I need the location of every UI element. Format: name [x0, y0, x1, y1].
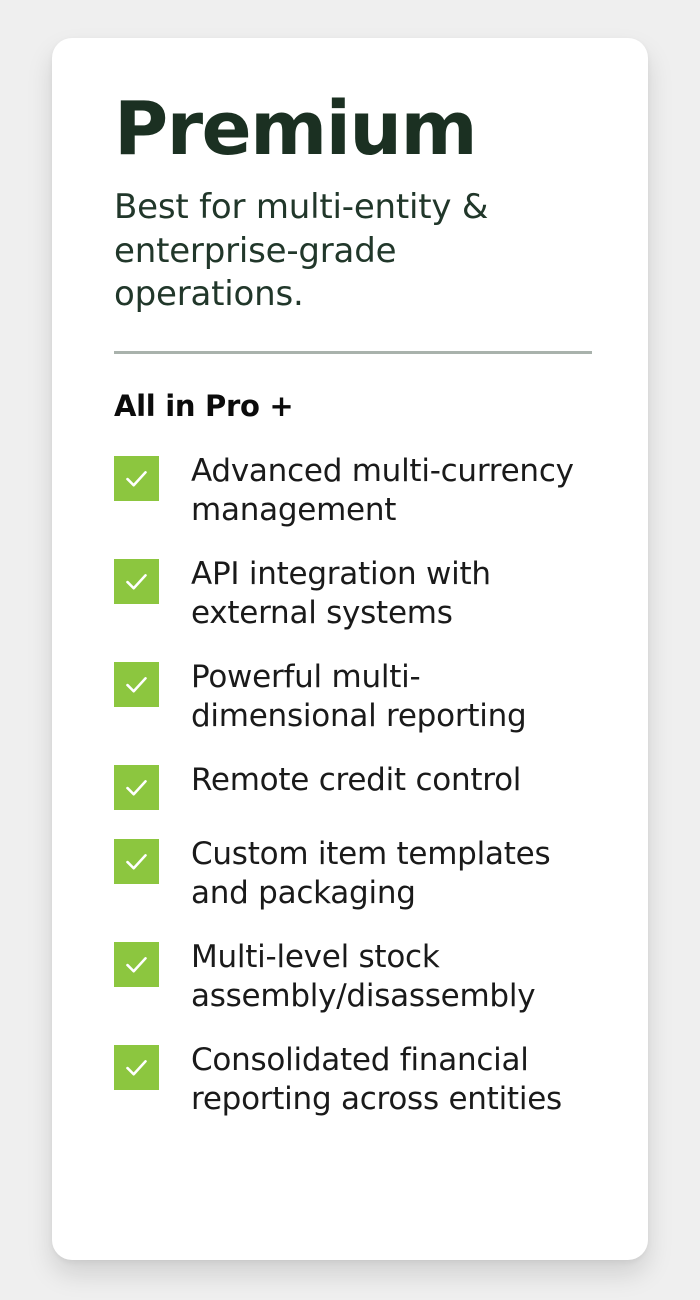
check-icon [114, 942, 159, 987]
feature-group-heading: All in Pro + [114, 389, 608, 423]
section-divider [114, 351, 592, 354]
feature-label: Powerful multi-dimensional reporting [191, 657, 591, 736]
plan-title: Premium [114, 92, 608, 166]
list-item: Advanced multi-currency management [114, 451, 608, 530]
list-item: Powerful multi-dimensional reporting [114, 657, 608, 736]
list-item: Custom item templates and packaging [114, 834, 608, 913]
list-item: Remote credit control [114, 760, 608, 810]
pricing-card-premium: Premium Best for multi-entity & enterpri… [52, 38, 648, 1260]
feature-label: Multi-level stock assembly/disassembly [191, 937, 591, 1016]
feature-label: Consolidated financial reporting across … [191, 1040, 591, 1119]
list-item: Multi-level stock assembly/disassembly [114, 937, 608, 1016]
list-item: Consolidated financial reporting across … [114, 1040, 608, 1119]
check-icon [114, 1045, 159, 1090]
plan-subtitle: Best for multi-entity & enterprise-grade… [114, 186, 544, 317]
check-icon [114, 662, 159, 707]
page-root: Premium Best for multi-entity & enterpri… [0, 0, 700, 1300]
feature-label: Advanced multi-currency management [191, 451, 591, 530]
list-item: API integration with external systems [114, 554, 608, 633]
check-icon [114, 559, 159, 604]
feature-label: API integration with external systems [191, 554, 591, 633]
check-icon [114, 765, 159, 810]
feature-label: Remote credit control [191, 760, 521, 800]
feature-list: Advanced multi-currency management API i… [114, 451, 608, 1120]
check-icon [114, 456, 159, 501]
feature-label: Custom item templates and packaging [191, 834, 591, 913]
card-content: Premium Best for multi-entity & enterpri… [52, 38, 648, 1119]
check-icon [114, 839, 159, 884]
